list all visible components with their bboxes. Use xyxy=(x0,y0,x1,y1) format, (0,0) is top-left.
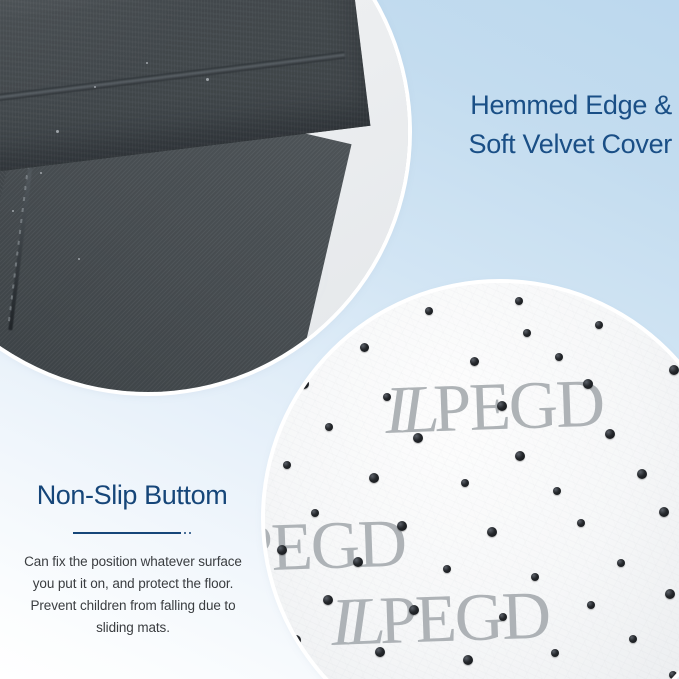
anti-slip-dot xyxy=(375,647,385,657)
lint-speck xyxy=(40,172,42,174)
lint-speck xyxy=(206,78,209,81)
anti-slip-dot xyxy=(277,545,287,555)
anti-slip-dot xyxy=(470,357,479,366)
anti-slip-dot xyxy=(325,423,333,431)
heading-non-slip: Non-Slip Buttom xyxy=(8,478,256,512)
anti-slip-dot xyxy=(413,433,423,443)
anti-slip-dot xyxy=(360,343,369,352)
anti-slip-dot xyxy=(299,379,309,389)
anti-slip-dot xyxy=(499,613,507,621)
anti-slip-dot xyxy=(617,559,625,567)
anti-slip-dot xyxy=(323,595,333,605)
anti-slip-dot xyxy=(643,319,653,329)
anti-slip-dot xyxy=(443,565,451,573)
body-line-2: you put it on, and protect the floor. xyxy=(8,573,258,595)
mat-scene: ILPEGDILPEGDILPEGD xyxy=(265,283,679,679)
anti-slip-dot xyxy=(555,353,563,361)
brand-watermark: ILPEGD xyxy=(330,575,551,662)
heading-hemmed-line2: Soft Velvet Cover xyxy=(422,125,672,164)
anti-slip-dot xyxy=(383,393,391,401)
anti-slip-dot xyxy=(461,479,469,487)
anti-slip-dot xyxy=(515,297,523,305)
anti-slip-dot xyxy=(487,527,497,537)
anti-slip-dot xyxy=(397,521,407,531)
anti-slip-dot xyxy=(605,429,615,439)
divider-dot xyxy=(189,532,191,534)
anti-slip-dot xyxy=(553,487,561,495)
anti-slip-dot xyxy=(463,655,473,665)
anti-slip-dot xyxy=(283,461,291,469)
anti-slip-dot xyxy=(629,635,637,643)
body-line-1: Can fix the position whatever surface xyxy=(8,551,258,573)
heading-hemmed-edge: Hemmed Edge & Soft Velvet Cover xyxy=(422,86,672,164)
body-line-4: sliding mats. xyxy=(8,617,258,639)
divider-dot xyxy=(184,532,186,534)
anti-slip-dot xyxy=(291,635,301,645)
lint-speck xyxy=(12,210,14,212)
body-non-slip-description: Can fix the position whatever surface yo… xyxy=(8,551,258,639)
anti-slip-dot xyxy=(425,307,433,315)
anti-slip-dot xyxy=(595,321,603,329)
anti-slip-dot xyxy=(669,671,677,679)
anti-slip-dot xyxy=(531,573,539,581)
anti-slip-dot xyxy=(551,649,559,657)
anti-slip-dot xyxy=(497,401,507,411)
photo-non-slip-mat: ILPEGDILPEGDILPEGD xyxy=(265,283,679,679)
anti-slip-dot xyxy=(583,379,593,389)
anti-slip-dot xyxy=(659,507,669,517)
lint-speck xyxy=(56,130,59,133)
lint-speck xyxy=(146,62,148,64)
lint-speck xyxy=(94,86,96,88)
anti-slip-dot xyxy=(523,329,531,337)
anti-slip-dot xyxy=(515,451,525,461)
anti-slip-dot xyxy=(587,601,595,609)
anti-slip-dot xyxy=(311,509,319,517)
anti-slip-dot xyxy=(669,365,679,375)
heading-hemmed-line1: Hemmed Edge & xyxy=(422,86,672,125)
body-line-3: Prevent children from falling due to xyxy=(8,595,258,617)
anti-slip-dot xyxy=(353,557,363,567)
anti-slip-dot xyxy=(637,469,647,479)
lint-speck xyxy=(78,258,80,260)
divider-line xyxy=(73,532,181,534)
anti-slip-dot xyxy=(409,605,419,615)
heading-divider xyxy=(8,528,256,538)
anti-slip-dot xyxy=(369,473,379,483)
anti-slip-dot xyxy=(577,519,585,527)
anti-slip-dot xyxy=(665,589,675,599)
feature-image-canvas: ILPEGDILPEGDILPEGD Hemmed Edge & Soft Ve… xyxy=(0,0,679,679)
